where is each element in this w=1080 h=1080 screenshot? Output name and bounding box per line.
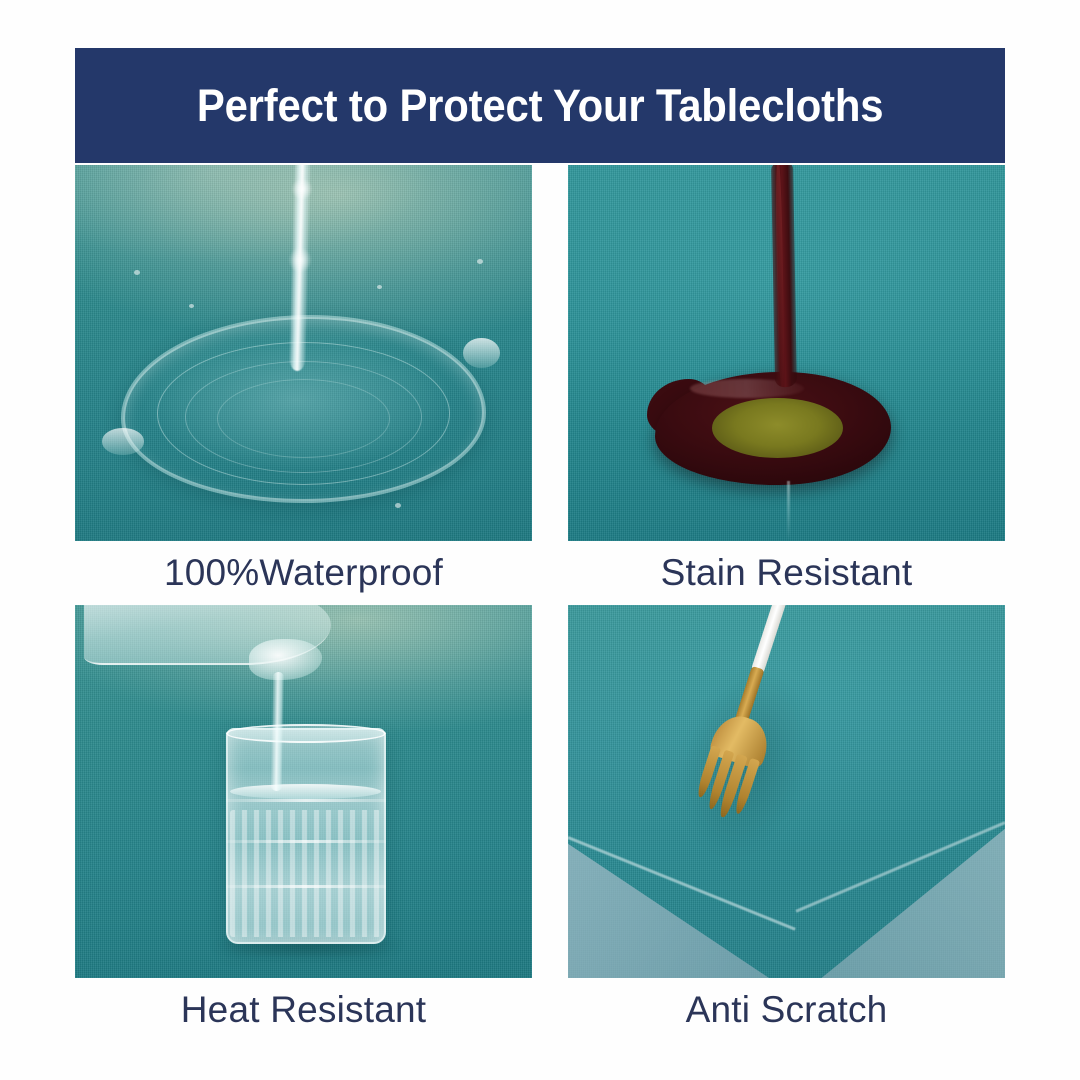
glass-facet-band	[226, 799, 386, 802]
fabric-fold-highlight	[787, 481, 790, 541]
feature-photo-stain-resistant	[568, 165, 1005, 541]
feature-cell-heat-resistant: Heat Resistant	[75, 605, 532, 1042]
puddle-edge-bead	[463, 338, 500, 368]
feature-photo-anti-scratch	[568, 605, 1005, 978]
feature-cell-waterproof: 100%Waterproof	[75, 165, 532, 605]
wine-pour-stream	[771, 165, 797, 387]
feature-photo-heat-resistant	[75, 605, 532, 978]
puddle-edge-bead	[102, 428, 143, 454]
glass-waterline	[230, 784, 381, 799]
glass-facet-band	[226, 840, 386, 843]
glass-facet-band	[226, 885, 386, 888]
infographic-page: Perfect to Protect Your Tablecloths	[0, 0, 1080, 1080]
feature-caption-stain-resistant: Stain Resistant	[568, 541, 1005, 605]
header-banner: Perfect to Protect Your Tablecloths	[75, 48, 1005, 163]
water-ripple-ring	[217, 379, 391, 458]
page-title: Perfect to Protect Your Tablecloths	[197, 80, 883, 132]
feature-cell-stain-resistant: Stain Resistant	[568, 165, 1005, 605]
hot-water-stream	[270, 672, 283, 792]
feature-caption-anti-scratch: Anti Scratch	[568, 978, 1005, 1042]
feature-photo-waterproof	[75, 165, 532, 541]
fork-handle	[751, 605, 788, 674]
feature-grid: 100%Waterproof Stain Resistant	[75, 165, 1005, 1045]
glass-rim	[226, 724, 386, 743]
glass-cut-pattern	[230, 810, 381, 937]
feature-caption-heat-resistant: Heat Resistant	[75, 978, 532, 1042]
feature-caption-waterproof: 100%Waterproof	[75, 541, 532, 605]
feature-cell-anti-scratch: Anti Scratch	[568, 605, 1005, 1042]
wine-spill-center-highlight	[712, 398, 843, 458]
